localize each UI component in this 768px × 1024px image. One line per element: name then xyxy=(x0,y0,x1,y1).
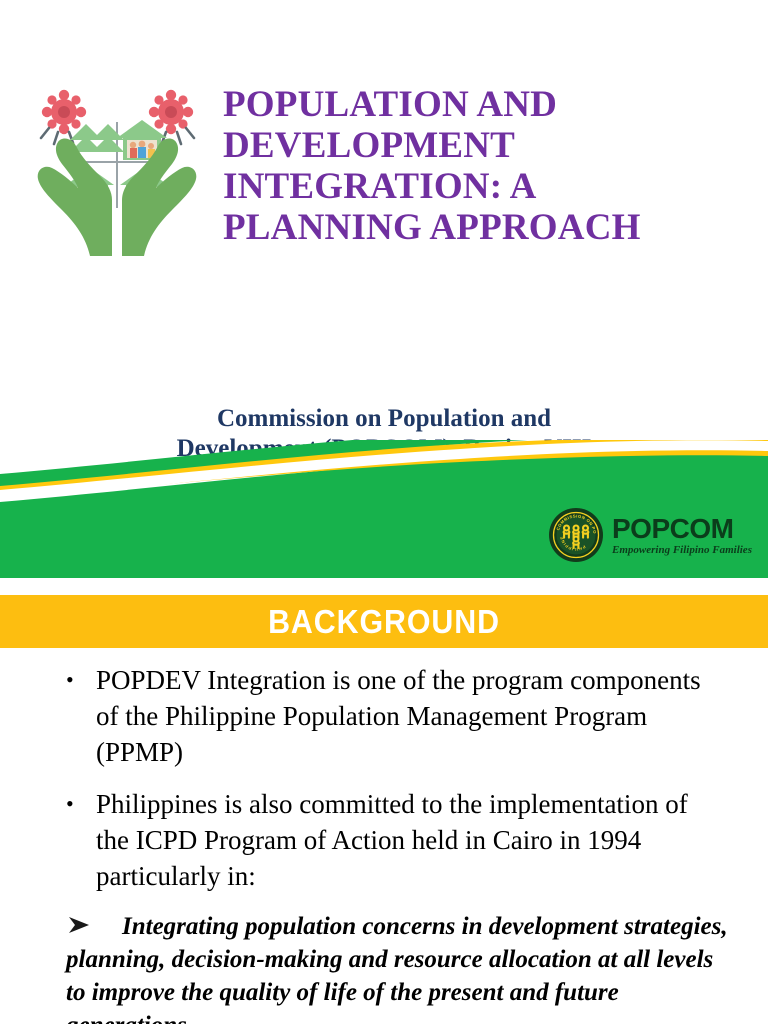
popcom-brand-lockup: COMMISSION ON POPULATION PHILIPPINES xyxy=(548,503,762,567)
bullet-text: POPDEV Integration is one of the program… xyxy=(96,665,701,767)
bullet-dot-icon: • xyxy=(66,786,90,822)
slide-title-block: POPULATION AND DEVELOPMENT INTEGRATION: … xyxy=(0,72,768,262)
popdev-hands-houses-logo xyxy=(24,80,210,256)
section-title: BACKGROUND xyxy=(268,605,500,638)
trees-icon xyxy=(70,124,124,152)
section-header-bar: BACKGROUND xyxy=(0,595,768,648)
bullet-dot-icon: • xyxy=(66,662,90,698)
popcom-tagline: Empowering Filipino Families xyxy=(612,544,752,557)
slide-body: • POPDEV Integration is one of the progr… xyxy=(0,662,768,1024)
popcom-wordmark: POPCOM xyxy=(612,515,752,543)
sub-bullet-item: Integrating population concerns in devel… xyxy=(0,910,768,1024)
bullet-item: • Philippines is also committed to the i… xyxy=(0,786,768,894)
sub-bullet-text: Integrating population concerns in devel… xyxy=(66,913,728,1024)
page-title: POPULATION AND DEVELOPMENT INTEGRATION: … xyxy=(223,84,763,248)
arrow-bullet-icon xyxy=(66,912,92,938)
bullet-item: • POPDEV Integration is one of the progr… xyxy=(0,662,768,770)
popcom-seal: COMMISSION ON POPULATION PHILIPPINES xyxy=(548,507,604,563)
bullet-text: Philippines is also committed to the imp… xyxy=(96,789,688,891)
